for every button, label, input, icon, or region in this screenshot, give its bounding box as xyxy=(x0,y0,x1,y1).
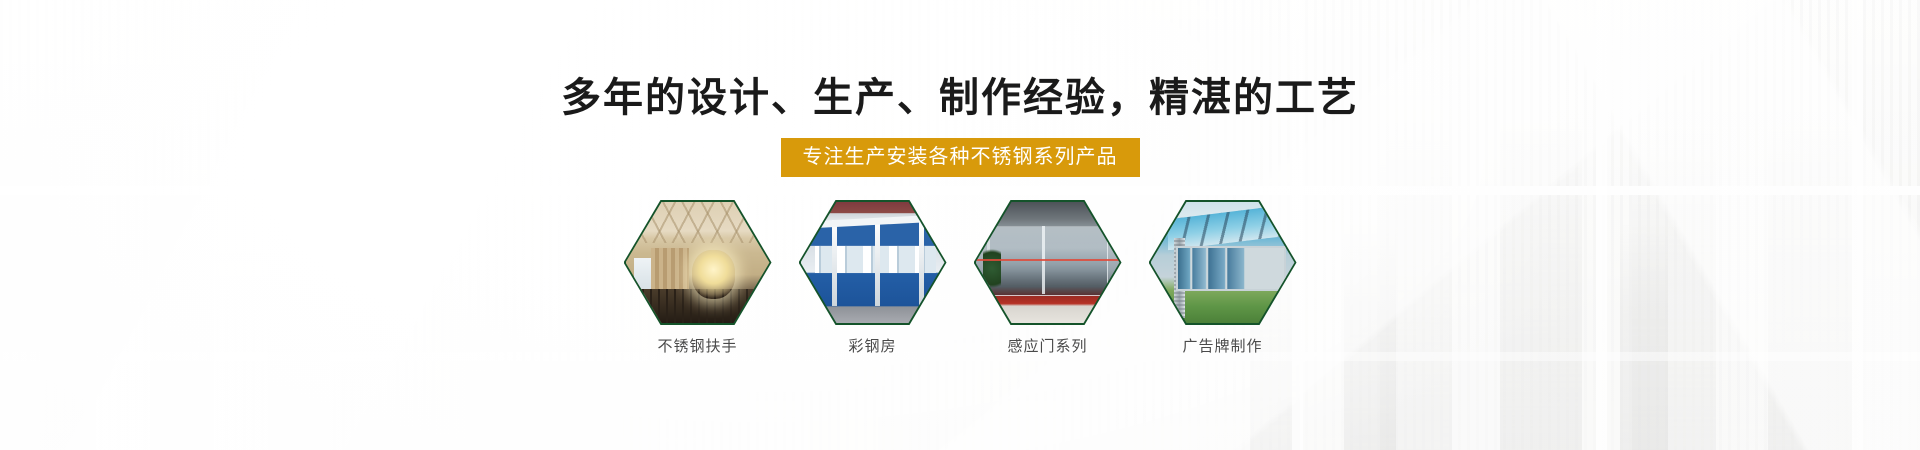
hexagon-frame[interactable] xyxy=(799,200,947,325)
product-card-color-steel-room[interactable]: 彩钢房 xyxy=(799,200,947,356)
banner-content: 多年的设计、生产、制作经验，精湛的工艺 专注生产安装各种不锈钢系列产品 不锈钢扶… xyxy=(0,0,1920,450)
product-image-guard-house xyxy=(801,202,945,323)
banner-headline: 多年的设计、生产、制作经验，精湛的工艺 xyxy=(0,74,1920,122)
product-image-glass-door xyxy=(976,202,1120,323)
product-card-handrail[interactable]: 不锈钢扶手 xyxy=(624,200,772,356)
door-center-frame xyxy=(1042,226,1045,294)
guard-house-post xyxy=(919,220,924,306)
product-label: 广告牌制作 xyxy=(1182,335,1262,356)
entrance-plant xyxy=(983,243,1002,294)
hexagon-image-clip xyxy=(1151,202,1295,323)
banner-subtitle-badge: 专注生产安装各种不锈钢系列产品 xyxy=(781,138,1140,177)
product-label: 不锈钢扶手 xyxy=(657,335,737,356)
hexagon-image-clip xyxy=(626,202,770,323)
promo-banner: 多年的设计、生产、制作经验，精湛的工艺 专注生产安装各种不锈钢系列产品 不锈钢扶… xyxy=(0,0,1920,450)
product-image-handrail xyxy=(626,202,770,323)
product-label: 感应门系列 xyxy=(1007,335,1087,356)
hexagon-image-clip xyxy=(801,202,945,323)
billboard-support-post xyxy=(1174,238,1185,318)
product-label: 彩钢房 xyxy=(848,335,896,356)
guard-house-post xyxy=(875,220,880,306)
hexagon-frame[interactable] xyxy=(624,200,772,325)
product-card-sensor-door[interactable]: 感应门系列 xyxy=(974,200,1122,356)
banner-subtitle-wrap: 专注生产安装各种不锈钢系列产品 xyxy=(0,138,1920,177)
product-hexagon-list: 不锈钢扶手 彩钢房 xyxy=(0,200,1920,356)
product-card-billboard[interactable]: 广告牌制作 xyxy=(1149,200,1297,356)
hexagon-image-clip xyxy=(976,202,1120,323)
guard-house-post xyxy=(832,220,837,306)
hexagon-frame[interactable] xyxy=(974,200,1122,325)
product-image-billboard xyxy=(1151,202,1295,323)
hexagon-frame[interactable] xyxy=(1149,200,1297,325)
interior-railing xyxy=(626,289,770,323)
